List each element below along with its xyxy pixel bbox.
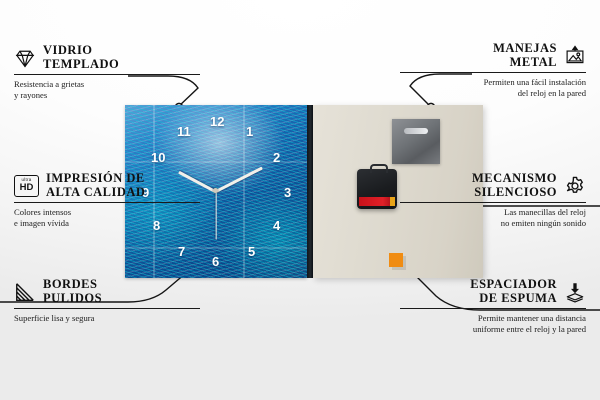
callout-mecanismo-silencioso: MECANISMO SILENCIOSO Las manecillas del … xyxy=(400,172,586,229)
callout-sub-line2: uniforme entre el reloj y la pared xyxy=(400,324,586,335)
callout-title-line2: PULIDOS xyxy=(43,292,102,306)
callout-subtitle: Las manecillas del reloj no emiten ningú… xyxy=(400,207,586,229)
callout-rule xyxy=(400,308,586,309)
picture-hanger-icon xyxy=(564,45,586,67)
callout-sub-line1: Resistencia a grietas xyxy=(14,79,200,90)
callout-sub-line1: Permiten una fácil instalación xyxy=(400,77,586,88)
mechanism-hook xyxy=(370,164,388,173)
callout-rule xyxy=(14,308,200,309)
callout-title-line2: SILENCIOSO xyxy=(472,186,557,200)
callout-sub-line1: Colores intensos xyxy=(14,207,200,218)
callout-sub-line2: no emiten ningún sonido xyxy=(400,218,586,229)
clock-center-cap xyxy=(213,188,218,193)
clock-numeral-7: 7 xyxy=(178,245,185,258)
ultra-hd-icon-big-text: HD xyxy=(20,183,34,193)
callout-sub-line1: Permite mantener una distancia xyxy=(400,313,586,324)
callout-vidrio-templado: VIDRIO TEMPLADO Resistencia a grietas y … xyxy=(14,44,200,101)
callout-subtitle: Colores intensos e imagen vívida xyxy=(14,207,200,229)
callout-title-line1: MECANISMO xyxy=(472,172,557,186)
callout-sub-line1: Las manecillas del reloj xyxy=(400,207,586,218)
callout-manejas-metal: MANEJAS METAL Permiten una fácil instala… xyxy=(400,42,586,99)
clock-mechanism-box xyxy=(357,169,397,209)
callout-rule xyxy=(14,74,200,75)
callout-impresion-alta-calidad: ultra HD IMPRESIÓN DE ALTA CALIDAD Color… xyxy=(14,172,200,229)
callout-subtitle: Resistencia a grietas y rayones xyxy=(14,79,200,101)
clock-numeral-1: 1 xyxy=(246,125,253,138)
callout-title-line1: VIDRIO xyxy=(43,44,119,58)
callout-sub-line2: e imagen vívida xyxy=(14,218,200,229)
mechanism-yellow-chip xyxy=(390,197,395,206)
ultra-hd-icon: ultra HD xyxy=(14,175,39,197)
callout-subtitle: Permiten una fácil instalación del reloj… xyxy=(400,77,586,99)
callout-title-line1: IMPRESIÓN DE xyxy=(46,172,145,186)
callout-title: MANEJAS METAL xyxy=(493,42,557,69)
polished-edge-icon xyxy=(14,281,36,303)
callout-sub-line2: del reloj en la pared xyxy=(400,88,586,99)
callout-rule xyxy=(14,202,200,203)
clock-numeral-5: 5 xyxy=(248,245,255,258)
callout-title-line1: MANEJAS xyxy=(493,42,557,56)
clock-numeral-6: 6 xyxy=(212,255,219,268)
metal-hanger-plate xyxy=(392,119,440,164)
callout-title: MECANISMO SILENCIOSO xyxy=(472,172,557,199)
callout-title: VIDRIO TEMPLADO xyxy=(43,44,119,71)
callout-rule xyxy=(400,202,586,203)
callout-subtitle: Permite mantener una distancia uniforme … xyxy=(400,313,586,335)
clock-numeral-2: 2 xyxy=(273,151,280,164)
callout-subtitle: Superficie lisa y segura xyxy=(14,313,200,324)
foam-spacer-icon xyxy=(564,281,586,303)
hanger-slot xyxy=(404,128,428,134)
callout-title: BORDES PULIDOS xyxy=(43,278,102,305)
clock-numeral-3: 3 xyxy=(284,186,291,199)
callout-title-line2: METAL xyxy=(493,56,557,70)
clock-numeral-11: 11 xyxy=(177,125,191,138)
clock-numeral-12: 12 xyxy=(210,115,224,128)
callout-rule xyxy=(400,72,586,73)
callout-espaciador-de-espuma: ESPACIADOR DE ESPUMA Permite mantener un… xyxy=(400,278,586,335)
diamond-icon xyxy=(14,47,36,69)
callout-title-line2: TEMPLADO xyxy=(43,58,119,72)
orange-foam-spacer xyxy=(389,253,403,267)
callout-title-line1: BORDES xyxy=(43,278,102,292)
infographic-canvas: 12 1 2 3 4 5 6 7 8 9 10 11 xyxy=(0,0,600,400)
callout-title-line2: ALTA CALIDAD xyxy=(46,186,145,200)
clock-second-hand xyxy=(215,192,216,240)
clock-numeral-4: 4 xyxy=(273,219,280,232)
gear-icon xyxy=(564,175,586,197)
callout-sub-line2: y rayones xyxy=(14,90,200,101)
mechanism-red-label xyxy=(359,197,393,206)
callout-title: ESPACIADOR DE ESPUMA xyxy=(470,278,557,305)
callout-title-line1: ESPACIADOR xyxy=(470,278,557,292)
callout-bordes-pulidos: BORDES PULIDOS Superficie lisa y segura xyxy=(14,278,200,324)
callout-title: IMPRESIÓN DE ALTA CALIDAD xyxy=(46,172,145,199)
clock-minute-hand xyxy=(215,167,263,194)
callout-sub-line1: Superficie lisa y segura xyxy=(14,313,200,324)
callout-title-line2: DE ESPUMA xyxy=(470,292,557,306)
clock-numeral-10: 10 xyxy=(151,151,165,164)
